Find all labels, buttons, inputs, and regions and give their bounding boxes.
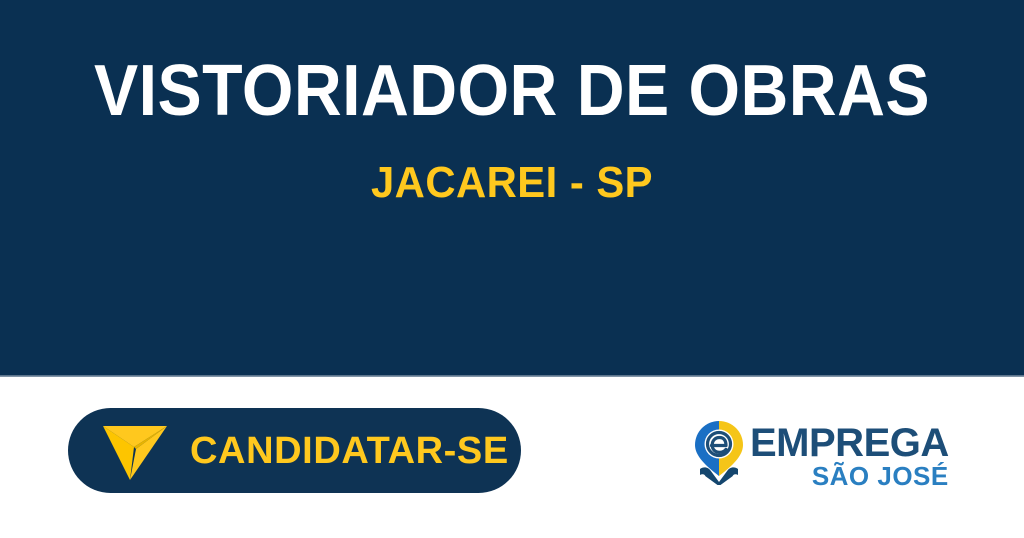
brand-wordmark: EMPREGA SÃO JOSÉ — [750, 420, 949, 489]
send-paper-plane-icon — [102, 420, 168, 482]
brand-name-secondary: SÃO JOSÉ — [812, 463, 949, 489]
brand-name-primary: EMPREGA — [750, 424, 949, 462]
apply-button-label: CANDIDATAR-SE — [190, 432, 509, 470]
banner-section: VISTORIADOR DE OBRAS JACAREI - SP — [0, 0, 1024, 376]
page-title: VISTORIADOR DE OBRAS — [41, 52, 983, 130]
apply-button[interactable]: CANDIDATAR-SE — [68, 408, 521, 493]
job-location-subtitle: JACAREI - SP — [26, 158, 999, 208]
job-posting-card: VISTORIADOR DE OBRAS JACAREI - SP CANDID… — [0, 0, 1024, 538]
map-pin-e-icon — [694, 420, 744, 486]
brand-logo: EMPREGA SÃO JOSÉ — [694, 420, 919, 492]
